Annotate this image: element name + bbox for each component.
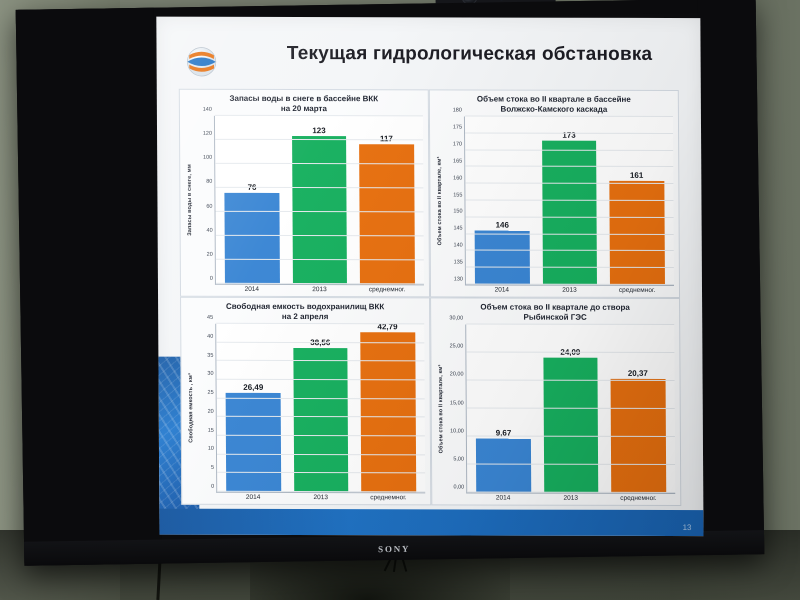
chart-title: Объем стока во II квартале в бассейне Во… <box>435 94 673 116</box>
x-axis-ticks: 20142013среднемног. <box>216 493 425 502</box>
bar-series: 26,4938,5642,79 <box>216 324 425 493</box>
y-tick-label: 145 <box>453 226 462 232</box>
bar-value-label: 123 <box>312 126 325 135</box>
y-tick-label: 160 <box>453 175 462 181</box>
x-axis-ticks: 20142013среднемног. <box>466 493 675 502</box>
chart-title-line: Объем стока во II квартале до створа <box>436 302 674 313</box>
y-tick-label: 60 <box>206 203 212 209</box>
rushydro-logo-icon <box>182 43 220 81</box>
monitor-bezel-right <box>698 0 765 555</box>
x-tick-label: среднемног. <box>360 286 415 293</box>
y-tick-label: 10 <box>208 446 214 452</box>
y-tick-label: 80 <box>206 179 212 185</box>
chart-panel-snow-reserves[interactable]: Запасы воды в снеге в бассейне ВКК на 20… <box>179 89 430 298</box>
y-tick-label: 135 <box>454 260 463 266</box>
chart-title-line: Свободная емкость водохранилищ ВКК <box>186 302 424 313</box>
y-tick-label: 40 <box>206 228 212 234</box>
gridline <box>216 283 424 285</box>
plot-area: Объем стока во II квартале, км³ 0,005,00… <box>436 324 675 494</box>
y-tick-label: 0,00 <box>453 484 464 490</box>
y-axis-ticks: 051015202530354045 <box>195 324 216 493</box>
y-tick-label: 15 <box>208 427 214 433</box>
bar[interactable] <box>359 144 414 285</box>
chart-title: Объем стока во II квартале до створа Рыб… <box>436 302 674 324</box>
y-tick-label: 165 <box>453 158 462 164</box>
y-tick-label: 25 <box>207 390 213 396</box>
chart-title-line: Волжско-Камского каскада <box>435 104 673 115</box>
x-tick-label: 2014 <box>224 286 279 293</box>
slide-footer-bar: 13 <box>159 509 703 536</box>
bar-column[interactable]: 26,49 <box>226 324 282 492</box>
x-axis-ticks: 20142013среднемног. <box>215 285 424 294</box>
y-tick-label: 20 <box>208 409 214 415</box>
x-tick-label: 2013 <box>293 494 348 501</box>
x-tick-label: среднемног. <box>361 494 416 501</box>
chart-title-line: на 2 апреля <box>186 312 424 323</box>
monitor-bezel-left <box>16 8 163 566</box>
y-axis-ticks: 020406080100120140 <box>194 116 215 285</box>
chart-title: Свободная емкость водохранилищ ВКК на 2 … <box>186 302 424 324</box>
chart-title-line: на 20 марта <box>185 104 423 115</box>
y-tick-label: 10,00 <box>450 428 464 434</box>
y-tick-label: 30 <box>207 371 213 377</box>
x-tick-label: 2014 <box>476 494 531 501</box>
y-axis-ticks: 130135140145150155160165170175180 <box>444 116 465 285</box>
gridline <box>466 283 674 285</box>
x-tick-label: 2013 <box>292 286 347 293</box>
y-tick-label: 180 <box>453 107 462 113</box>
slide-title: Текущая гидрологическая обстановка <box>252 43 686 66</box>
plot-canvas: 26,4938,5642,79 <box>215 324 425 494</box>
bar[interactable] <box>293 348 348 492</box>
y-tick-label: 5 <box>211 465 214 471</box>
plot-canvas: 9,6724,0920,37 <box>465 324 675 494</box>
slide-number: 13 <box>683 523 692 532</box>
bar[interactable] <box>360 332 416 492</box>
room-scene: SONY 13 <box>0 0 800 600</box>
y-tick-label: 5,00 <box>453 456 464 462</box>
x-axis-ticks: 20142013среднемног. <box>465 285 674 294</box>
x-tick-label: среднемног. <box>611 495 666 502</box>
sony-monitor: SONY 13 <box>16 0 765 566</box>
bar[interactable] <box>225 193 280 284</box>
y-tick-label: 175 <box>453 124 462 130</box>
y-tick-label: 170 <box>453 141 462 147</box>
gridline <box>217 491 425 493</box>
bar[interactable] <box>543 358 598 493</box>
chart-title-line: Запасы воды в снеге в бассейне ВКК <box>185 94 423 105</box>
chart-panel-free-capacity[interactable]: Свободная емкость водохранилищ ВКК на 2 … <box>180 297 431 506</box>
chart-panel-vkk-runoff[interactable]: Объем стока во II квартале в бассейне Во… <box>429 89 680 298</box>
y-tick-label: 0 <box>210 276 213 282</box>
y-tick-label: 40 <box>207 334 213 340</box>
chart-title-line: Объем стока во II квартале в бассейне <box>435 94 673 105</box>
y-axis-ticks: 0,005,0010,0015,0020,0025,0030,00 <box>445 324 466 493</box>
bar[interactable] <box>542 140 597 285</box>
gridline <box>467 491 675 493</box>
plot-area: Свободная емкость , км³ 0510152025303540… <box>186 324 425 494</box>
chart-panel-rybinsk-runoff[interactable]: Объем стока во II квартале до створа Рыб… <box>430 297 681 506</box>
y-tick-label: 20,00 <box>450 372 464 378</box>
y-tick-label: 130 <box>454 276 463 282</box>
presentation-slide: 13 Текущая гидрологи <box>156 17 703 536</box>
chart-title-line: Рыбинской ГЭС <box>436 312 674 323</box>
bar[interactable] <box>475 231 530 285</box>
x-tick-label: 2014 <box>226 494 281 501</box>
y-tick-label: 120 <box>203 131 212 137</box>
y-tick-label: 20 <box>207 252 213 258</box>
chart-grid: Запасы воды в снеге в бассейне ВКК на 20… <box>179 89 682 506</box>
y-tick-label: 0 <box>211 484 214 490</box>
y-tick-label: 140 <box>203 107 212 113</box>
y-tick-label: 150 <box>453 209 462 215</box>
chart-title: Запасы воды в снеге в бассейне ВКК на 20… <box>185 94 423 116</box>
x-tick-label: 2013 <box>543 495 598 502</box>
bar-value-label: 146 <box>496 221 509 230</box>
x-tick-label: 2014 <box>474 286 529 293</box>
y-tick-label: 140 <box>454 243 463 249</box>
bar[interactable] <box>226 393 281 492</box>
x-tick-label: 2013 <box>542 287 597 294</box>
plot-canvas: 146173161 <box>464 116 674 286</box>
y-tick-label: 155 <box>453 192 462 198</box>
plot-area: Запасы воды в снеге, мм 0204060801001201… <box>185 116 424 286</box>
bar-value-label: 26,49 <box>243 383 263 392</box>
y-tick-label: 45 <box>207 315 213 321</box>
y-tick-label: 15,00 <box>450 400 464 406</box>
y-tick-label: 35 <box>207 352 213 358</box>
bar-value-label: 161 <box>630 171 643 180</box>
plot-area: Объем стока во II квартале, км³ 13013514… <box>435 116 674 286</box>
y-tick-label: 100 <box>203 155 212 161</box>
bar-value-label: 20,37 <box>628 369 648 378</box>
bar[interactable] <box>476 438 531 492</box>
x-tick-label: среднемног. <box>610 287 665 294</box>
bar-column[interactable]: 38,56 <box>293 324 349 492</box>
bar-column[interactable]: 42,79 <box>360 324 416 492</box>
y-tick-label: 30,00 <box>449 315 463 321</box>
y-tick-label: 25,00 <box>450 344 464 350</box>
plot-canvas: 76123117 <box>214 116 424 286</box>
